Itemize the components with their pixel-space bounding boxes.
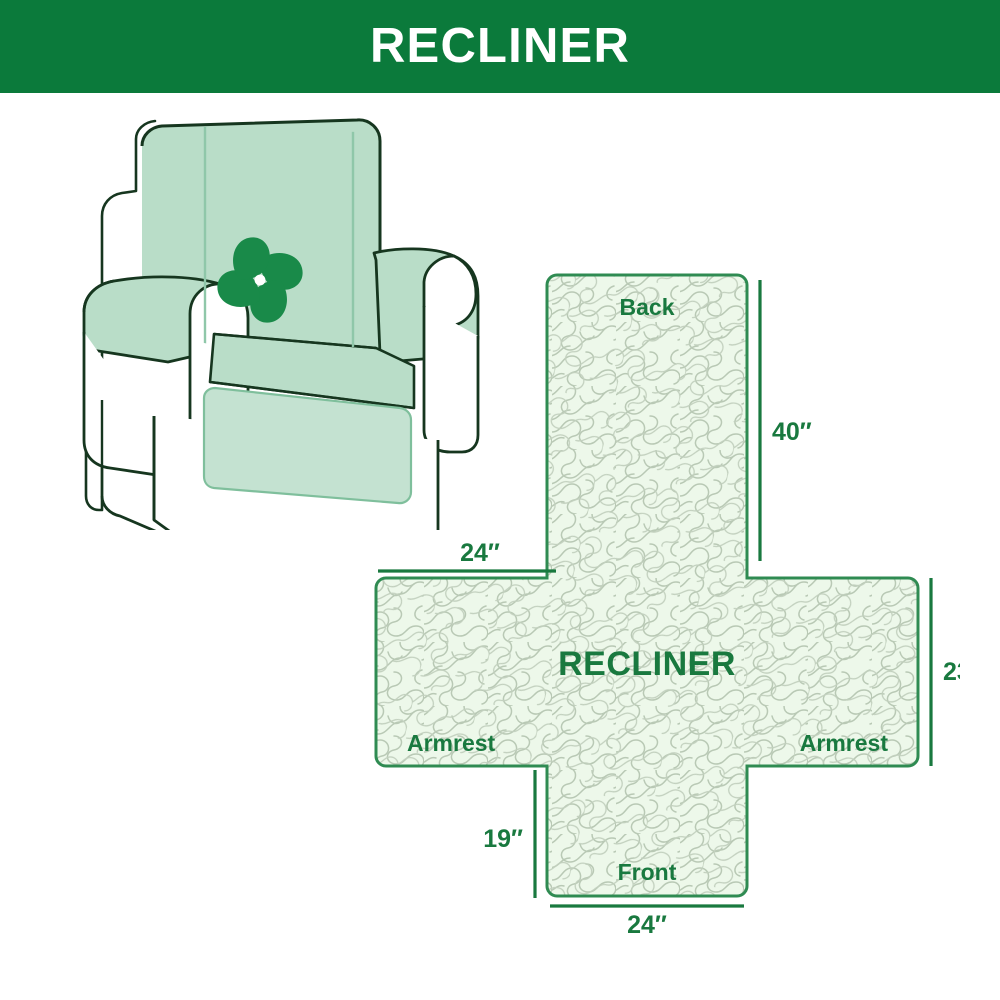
dimension-back-width: 24″ [460, 539, 500, 567]
header-bar: RECLINER [0, 0, 1000, 93]
dimension-front-height: 19″ [483, 825, 523, 853]
cover-layout-diagram: Back RECLINER Armrest Armrest Front 40″ … [360, 258, 960, 938]
page-title: RECLINER [370, 22, 630, 71]
dimension-front-width: 24″ [627, 911, 667, 938]
label-back: Back [620, 294, 675, 320]
product-dimension-diagram-page: RECLINER [0, 0, 1000, 1000]
cover-cross-shape [360, 258, 960, 938]
dimension-back-height: 40″ [772, 418, 812, 446]
dimension-armrest-height: 23″ [943, 658, 960, 686]
label-recliner-center: RECLINER [558, 645, 736, 683]
label-armrest-left: Armrest [407, 730, 496, 756]
label-front: Front [618, 859, 677, 885]
label-armrest-right: Armrest [800, 730, 889, 756]
